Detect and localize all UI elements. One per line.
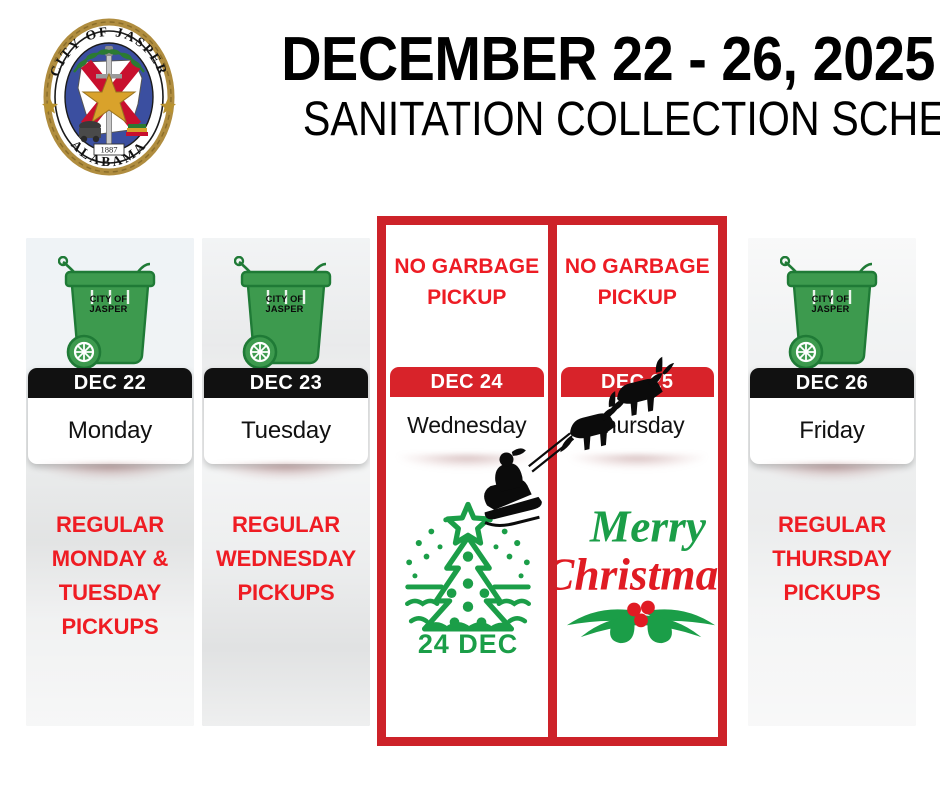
day-card-dec-23[interactable]: CITY OF JASPER DEC 23 Tuesday REGULAR WE… xyxy=(202,238,370,726)
day-plate: DEC 24 Wednesday xyxy=(390,367,544,453)
no-pickup-notice: NO GARBAGE PICKUP xyxy=(392,251,542,313)
seal-year: 1887 xyxy=(101,145,118,155)
date-badge: DEC 23 xyxy=(204,368,368,398)
garbage-bin-icon xyxy=(58,256,162,368)
christmas-text: Christmas xyxy=(557,550,719,600)
day-plate: DEC 25 Thursday xyxy=(561,367,715,453)
header-title-block: DECEMBER 22 - 26, 2025 SANITATION COLLEC… xyxy=(200,28,935,148)
page-title-subtitle: SANITATION COLLECTION SCHEDULE xyxy=(303,92,935,148)
christmas-tree-icon: 24 DEC xyxy=(386,487,548,667)
page-header: 1887 CITY OF JASPER ALABAMA DECEMBER 22 … xyxy=(0,0,940,200)
day-plate: DEC 26 Friday xyxy=(750,368,914,464)
date-badge: DEC 26 xyxy=(750,368,914,398)
day-plate: DEC 23 Tuesday xyxy=(204,368,368,464)
date-badge: DEC 22 xyxy=(28,368,192,398)
merry-christmas-graphic: Merry Christmas xyxy=(557,487,719,667)
tree-caption: 24 DEC xyxy=(418,629,518,656)
day-plate: DEC 22 Monday xyxy=(28,368,192,464)
no-pickup-notice: NO GARBAGE PICKUP xyxy=(563,251,713,313)
day-card-dec-25[interactable]: NO GARBAGE PICKUP DEC 25 Thursday Merry … xyxy=(557,225,719,737)
pickup-note: REGULAR THURSDAY PICKUPS xyxy=(754,508,910,610)
day-name: Monday xyxy=(28,398,192,464)
date-badge: DEC 25 xyxy=(561,367,715,397)
holiday-highlight-box: NO GARBAGE PICKUP DEC 24 Wednesday xyxy=(377,216,727,746)
merry-text: Merry xyxy=(588,501,706,551)
page-title-date: DECEMBER 22 - 26, 2025 xyxy=(274,28,936,92)
day-name: Friday xyxy=(750,398,914,464)
plate-shadow xyxy=(398,455,536,469)
day-name: Tuesday xyxy=(204,398,368,464)
day-card-dec-26[interactable]: CITY OF JASPER DEC 26 Friday REGULAR THU… xyxy=(748,238,916,726)
garbage-bin-icon xyxy=(780,256,884,368)
day-card-dec-24[interactable]: NO GARBAGE PICKUP DEC 24 Wednesday xyxy=(386,225,548,737)
pickup-note: REGULAR MONDAY & TUESDAY PICKUPS xyxy=(32,508,188,644)
city-of-jasper-seal-icon: 1887 CITY OF JASPER ALABAMA xyxy=(30,18,188,176)
day-card-dec-22[interactable]: CITY OF JASPER DEC 22 Monday REGULAR MON… xyxy=(26,238,194,726)
pickup-note: REGULAR WEDNESDAY PICKUPS xyxy=(208,508,364,610)
day-name: Thursday xyxy=(561,397,715,453)
date-badge: DEC 24 xyxy=(390,367,544,397)
day-name: Wednesday xyxy=(390,397,544,453)
garbage-bin-icon xyxy=(234,256,338,368)
plate-shadow xyxy=(569,455,707,469)
